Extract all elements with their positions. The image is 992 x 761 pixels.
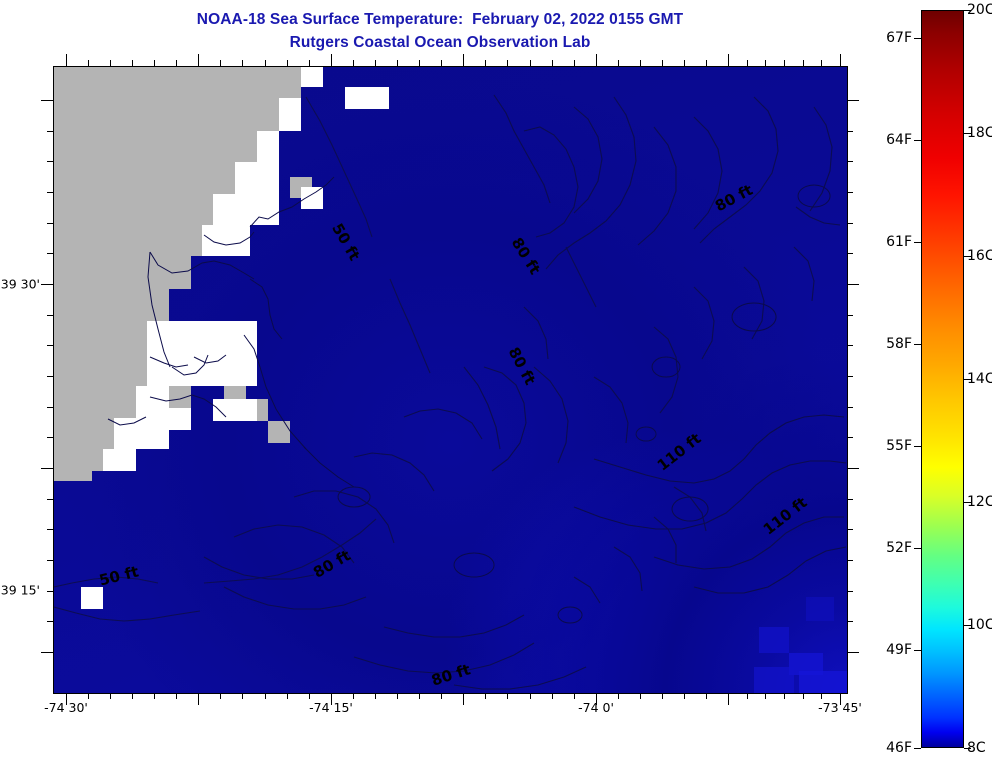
cloud-mask [235,162,279,194]
x-tick-major-top [463,54,464,66]
cloud-mask [136,386,169,418]
x-tick-minor [132,60,133,66]
y-tick-minor-right [847,192,853,193]
land-mask [54,418,114,449]
y-tick-major-right [847,468,859,469]
x-tick-minor [176,60,177,66]
cloud-mask [257,131,279,162]
land-mask [54,67,301,98]
x-tick-major-top [596,54,597,66]
y-tick-minor-right [847,345,853,346]
y-tick-minor [47,345,53,346]
x-tick-major-top [198,54,199,66]
x-tick-minor [220,60,221,66]
colorbar-label-f: 46F [868,740,912,756]
y-tick-minor [47,131,53,132]
cloud-mask [279,98,301,131]
y-axis-label: 39 30' [0,277,40,292]
land-mask [54,98,279,131]
colorbar-tick-f [914,38,921,39]
y-tick-minor-right [847,529,853,530]
x-tick-minor [618,693,619,699]
y-tick-minor-right [847,315,853,316]
x-tick-minor [154,60,155,66]
x-tick-minor [110,60,111,66]
x-tick-minor [747,693,748,699]
cloud-mask [301,67,323,87]
x-tick-major [463,693,464,705]
x-tick-major-top [728,54,729,66]
land-mask-islet [169,386,191,408]
x-tick-minor [765,693,766,699]
x-tick-minor [353,60,354,66]
x-tick-minor [507,693,508,699]
colorbar-tick-f [914,242,921,243]
y-tick-minor [47,376,53,377]
x-tick-minor [784,693,785,699]
y-tick-minor [47,315,53,316]
colorbar-tick-f [914,548,921,549]
y-axis-label: 39 15' [0,583,40,598]
land-mask [54,162,235,194]
colorbar-label-f: 52F [868,540,912,556]
x-tick-minor [507,60,508,66]
x-axis-label: -74 15' [309,700,353,715]
warm-pixel-block [754,667,794,693]
colorbar-label-c: 10C [967,617,992,633]
y-tick-minor-right [847,621,853,622]
y-tick-major-right [847,100,859,101]
x-tick-minor [765,60,766,66]
cloud-mask [169,408,191,430]
x-tick-minor [110,693,111,699]
x-tick-minor [574,693,575,699]
x-tick-minor [265,60,266,66]
sst-raster: 50 ft 80 ft 80 ft 80 ft 110 ft 110 ft 50… [54,67,847,693]
cloud-mask [114,418,169,449]
x-tick-minor [530,693,531,699]
cloud-mask [345,87,389,109]
y-tick-minor [47,499,53,500]
x-tick-minor [640,693,641,699]
land-mask [54,225,202,256]
colorbar-label-c: 16C [967,248,992,264]
x-tick-minor [552,60,553,66]
cloud-mask [213,194,279,225]
x-tick-minor [821,60,822,66]
temperature-colorbar[interactable]: 20C 18C 16C 14C 12C 10C 8C 67F 64F 61F 5… [921,10,964,748]
x-tick-minor [419,693,420,699]
x-tick-minor [821,693,822,699]
cloud-mask [81,587,103,609]
x-tick-minor [803,693,804,699]
x-tick-minor [485,60,486,66]
cloud-mask [224,335,246,357]
x-tick-minor [706,60,707,66]
y-tick-major [41,100,53,101]
x-tick-minor [530,60,531,66]
cloud-mask [213,399,257,421]
x-tick-minor [397,60,398,66]
sst-map[interactable]: 50 ft 80 ft 80 ft 80 ft 110 ft 110 ft 50… [53,66,848,694]
colorbar-tick-f [914,344,921,345]
x-tick-minor [132,693,133,699]
y-tick-minor [47,161,53,162]
page-title: NOAA-18 Sea Surface Temperature: Februar… [0,8,880,54]
x-tick-minor [309,693,310,699]
colorbar-tick-f [914,446,921,447]
x-tick-minor [287,693,288,699]
colorbar-tick-f [914,650,921,651]
colorbar-tick-f [914,140,921,141]
y-tick-major-right [847,652,859,653]
x-tick-major [198,693,199,705]
x-tick-minor [375,60,376,66]
x-tick-minor [485,693,486,699]
x-tick-minor [419,60,420,66]
colorbar-label-f: 64F [868,132,912,148]
title-line-2: Rutgers Coastal Ocean Observation Lab [0,31,880,54]
x-tick-minor [220,693,221,699]
y-tick-minor [47,591,53,592]
x-tick-minor [441,60,442,66]
y-tick-major [41,284,53,285]
y-tick-minor [47,529,53,530]
cloud-mask [202,225,250,256]
x-tick-minor [154,693,155,699]
x-tick-major-top [840,54,841,66]
land-mask [54,289,169,321]
y-tick-minor [47,192,53,193]
x-tick-minor [287,60,288,66]
land-mask [54,353,147,386]
x-axis-label: -73 45' [818,700,862,715]
colorbar-label-c: 14C [967,371,992,387]
land-mask [54,471,92,481]
x-tick-minor [803,60,804,66]
y-tick-minor-right [847,499,853,500]
land-mask [54,256,191,289]
y-tick-minor [47,621,53,622]
x-tick-minor [88,60,89,66]
x-tick-minor [574,60,575,66]
x-tick-major [728,693,729,705]
colorbar-label-f: 49F [868,642,912,658]
warm-pixel-block [806,597,834,621]
land-mask [54,449,103,471]
colorbar-label-f: 55F [868,438,912,454]
y-tick-minor-right [847,223,853,224]
x-tick-major-top [331,54,332,66]
x-tick-minor [375,693,376,699]
x-tick-minor [552,693,553,699]
land-mask [54,386,136,418]
colorbar-label-c: 18C [967,125,992,141]
x-tick-minor [784,60,785,66]
x-tick-minor [684,693,685,699]
y-tick-minor [47,437,53,438]
x-tick-minor [176,693,177,699]
warm-pixel-block [799,671,847,693]
colorbar-tick-f [914,748,921,749]
colorbar-label-f: 67F [868,30,912,46]
x-tick-minor [747,60,748,66]
x-tick-major-top [66,54,67,66]
y-tick-minor [47,223,53,224]
cloud-mask [191,357,213,377]
x-tick-minor [88,693,89,699]
y-tick-minor [47,407,53,408]
y-tick-minor-right [847,591,853,592]
x-tick-minor [265,693,266,699]
x-tick-minor [397,693,398,699]
x-axis-label: -74 30' [44,700,88,715]
x-axis-label: -74 0' [578,700,614,715]
x-tick-minor [706,693,707,699]
y-tick-major-right [847,284,859,285]
y-tick-minor-right [847,253,853,254]
colorbar-label-c: 20C [967,2,992,18]
x-tick-minor [242,693,243,699]
x-tick-minor [662,693,663,699]
y-tick-minor-right [847,376,853,377]
colorbar-label-f: 58F [868,336,912,352]
x-tick-minor [640,60,641,66]
x-tick-minor [662,60,663,66]
y-tick-major [41,652,53,653]
y-tick-minor [47,253,53,254]
land-mask [54,194,213,225]
colorbar-label-c: 12C [967,494,992,510]
colorbar-label-c: 8C [967,740,986,756]
y-tick-minor-right [847,131,853,132]
y-tick-major [41,468,53,469]
colorbar-gradient [921,10,964,748]
cloud-mask [301,187,323,209]
land-mask [54,321,158,353]
x-tick-minor [242,60,243,66]
cloud-mask [103,449,136,471]
cloud-mask [224,357,246,377]
x-tick-minor [309,60,310,66]
y-tick-minor-right [847,437,853,438]
y-tick-minor [47,560,53,561]
x-tick-minor [618,60,619,66]
y-tick-minor-right [847,560,853,561]
x-tick-minor [441,693,442,699]
x-tick-minor [684,60,685,66]
land-mask-islet [268,421,290,443]
warm-pixel-block [759,627,789,653]
land-mask [54,131,257,162]
x-tick-minor [353,693,354,699]
colorbar-label-f: 61F [868,234,912,250]
title-line-1: NOAA-18 Sea Surface Temperature: Februar… [0,8,880,31]
y-tick-minor-right [847,161,853,162]
y-tick-minor-right [847,407,853,408]
